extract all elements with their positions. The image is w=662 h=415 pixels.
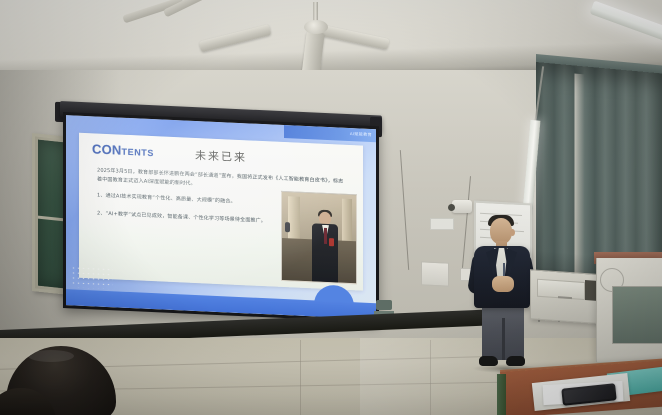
floor-tile-line <box>300 340 301 415</box>
fan-hub <box>304 20 328 34</box>
slide-dot-pattern <box>71 265 113 289</box>
audience-hair-highlight <box>28 350 74 362</box>
slide-content-card: CONTENTS 未来已来 2025年3月5日，教育部部长怀进鹏在两会“部长通道… <box>79 133 363 291</box>
cabinet-drawer <box>537 279 585 300</box>
ceiling-fan-secondary-icon <box>122 0 232 22</box>
presenter-shoe <box>479 356 498 366</box>
photo-person-badge <box>329 238 334 246</box>
slide-top-band-text: AI赋能教育 <box>350 131 372 138</box>
chair-back <box>376 300 392 310</box>
phone-screen <box>563 385 614 403</box>
photo-person-tie <box>324 228 327 244</box>
drawer-handle <box>558 296 572 299</box>
wall-electrical-box <box>421 261 449 286</box>
presenter-shoe <box>506 356 525 366</box>
presenter-ear <box>510 229 515 236</box>
podium-panel <box>612 286 662 344</box>
slide-list-item-number: 2、 <box>97 211 106 217</box>
camera-lens-icon <box>448 204 455 211</box>
projector-screen: AI赋能教育 CONTENTS 未来已来 2025年3月5日，教育部部长怀进鹏在… <box>63 112 379 322</box>
slide-list-item-number: 1、 <box>97 193 106 199</box>
slide-title: 未来已来 <box>79 142 363 171</box>
desk-leg <box>497 374 506 415</box>
ceiling-fan-icon <box>250 2 380 64</box>
photo-microphone-icon <box>285 222 290 232</box>
presenter-hands <box>492 276 514 292</box>
slide-list-item-text: 通过AI技术实现教育“个性化、高质量、大规模”的融合。 <box>106 193 236 205</box>
presenter-leg-split <box>502 318 505 360</box>
slide-list-item-text: “AI+教学”试点已见成效，智能备课、个性化学习等场景待全面推广。 <box>106 211 266 224</box>
projector-screen-surface: AI赋能教育 CONTENTS 未来已来 2025年3月5日，教育部部长怀进鹏在… <box>66 115 376 319</box>
wall-sign <box>430 218 454 230</box>
wall-camera-icon <box>452 200 472 213</box>
classroom-scene: AI赋能教育 CONTENTS 未来已来 2025年3月5日，教育部部长怀进鹏在… <box>0 0 662 415</box>
slide-embedded-photo <box>281 191 357 284</box>
photo-person <box>312 211 338 282</box>
presentation-slide: AI赋能教育 CONTENTS 未来已来 2025年3月5日，教育部部长怀进鹏在… <box>66 115 376 319</box>
